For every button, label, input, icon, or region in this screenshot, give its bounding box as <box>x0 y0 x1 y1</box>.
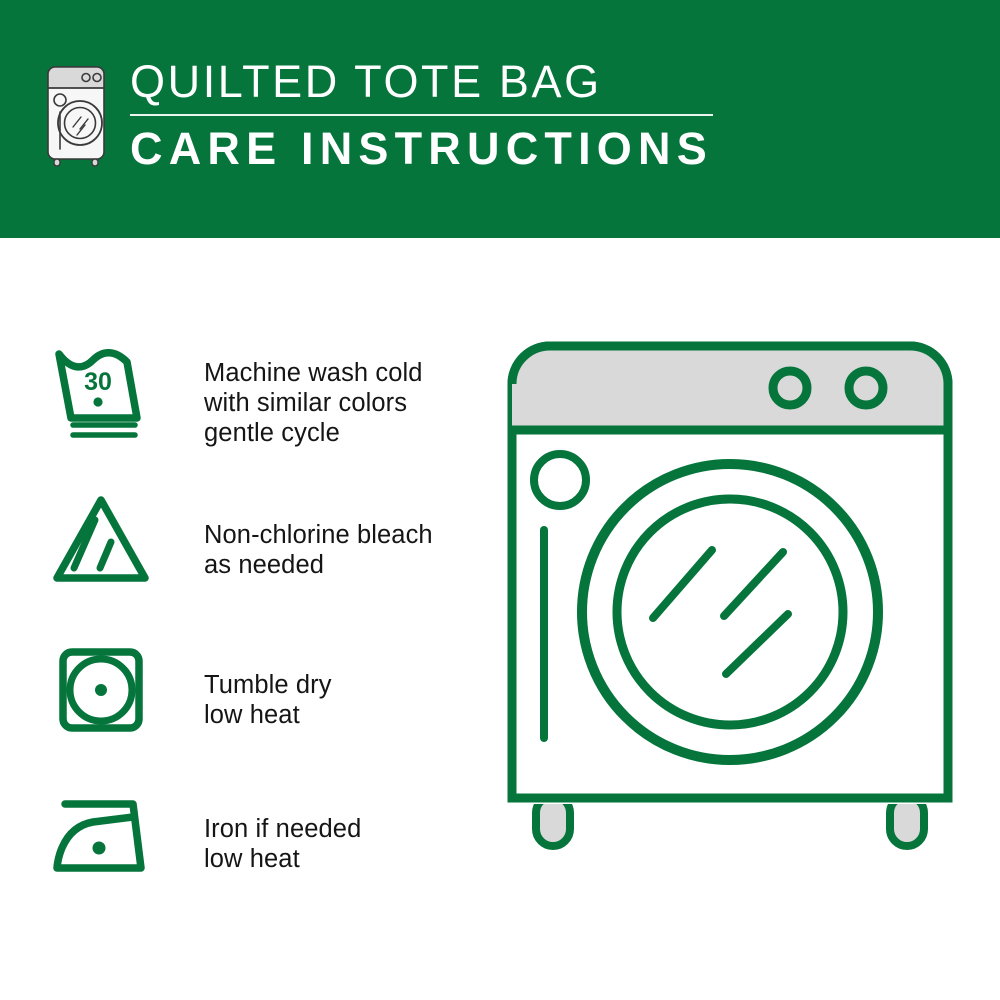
svg-text:30: 30 <box>84 368 112 396</box>
care-label-line: low heat <box>204 700 332 730</box>
care-symbol-wrap <box>48 636 160 740</box>
care-item-tumble-dry: Tumble dry low heat <box>48 636 468 786</box>
care-label-machine-wash: Machine wash cold with similar colors ge… <box>204 336 423 448</box>
care-label-line: low heat <box>204 844 361 874</box>
header-banner: QUILTED TOTE BAG CARE INSTRUCTIONS <box>0 0 1000 238</box>
title-divider <box>130 114 713 116</box>
care-symbol-wrap <box>48 786 160 890</box>
iron-low-heat-icon <box>49 790 159 890</box>
care-symbol-wrap <box>48 486 160 590</box>
care-item-iron: Iron if needed low heat <box>48 786 468 936</box>
care-instructions-page: QUILTED TOTE BAG CARE INSTRUCTIONS 30 Ma… <box>0 0 1000 1000</box>
care-label-line: Machine wash cold <box>204 358 423 388</box>
care-instructions-list: 30 Machine wash cold with similar colors… <box>48 336 468 936</box>
header-inner: QUILTED TOTE BAG CARE INSTRUCTIONS <box>44 57 713 174</box>
washing-machine-icon <box>44 63 108 167</box>
care-item-machine-wash: 30 Machine wash cold with similar colors… <box>48 336 468 486</box>
care-label-iron: Iron if needed low heat <box>204 786 361 874</box>
title-block: QUILTED TOTE BAG CARE INSTRUCTIONS <box>130 57 713 174</box>
tumble-dry-low-heat-icon <box>49 640 159 740</box>
care-label-bleach: Non-chlorine bleach as needed <box>204 486 433 580</box>
non-chlorine-bleach-triangle-icon <box>49 490 159 590</box>
page-title-line2: CARE INSTRUCTIONS <box>130 124 713 174</box>
care-label-tumble-dry: Tumble dry low heat <box>204 636 332 730</box>
care-label-line: Non-chlorine bleach <box>204 520 433 550</box>
front-load-washing-machine-illustration <box>490 330 970 930</box>
care-label-line: gentle cycle <box>204 418 423 448</box>
care-label-line: Tumble dry <box>204 670 332 700</box>
care-label-line: with similar colors <box>204 388 423 418</box>
care-symbol-wrap: 30 <box>48 336 160 440</box>
care-item-bleach: Non-chlorine bleach as needed <box>48 486 468 636</box>
care-label-line: Iron if needed <box>204 814 361 844</box>
wash-tub-30-gentle-icon: 30 <box>49 340 159 440</box>
care-label-line: as needed <box>204 550 433 580</box>
page-title-line1: QUILTED TOTE BAG <box>130 57 713 107</box>
